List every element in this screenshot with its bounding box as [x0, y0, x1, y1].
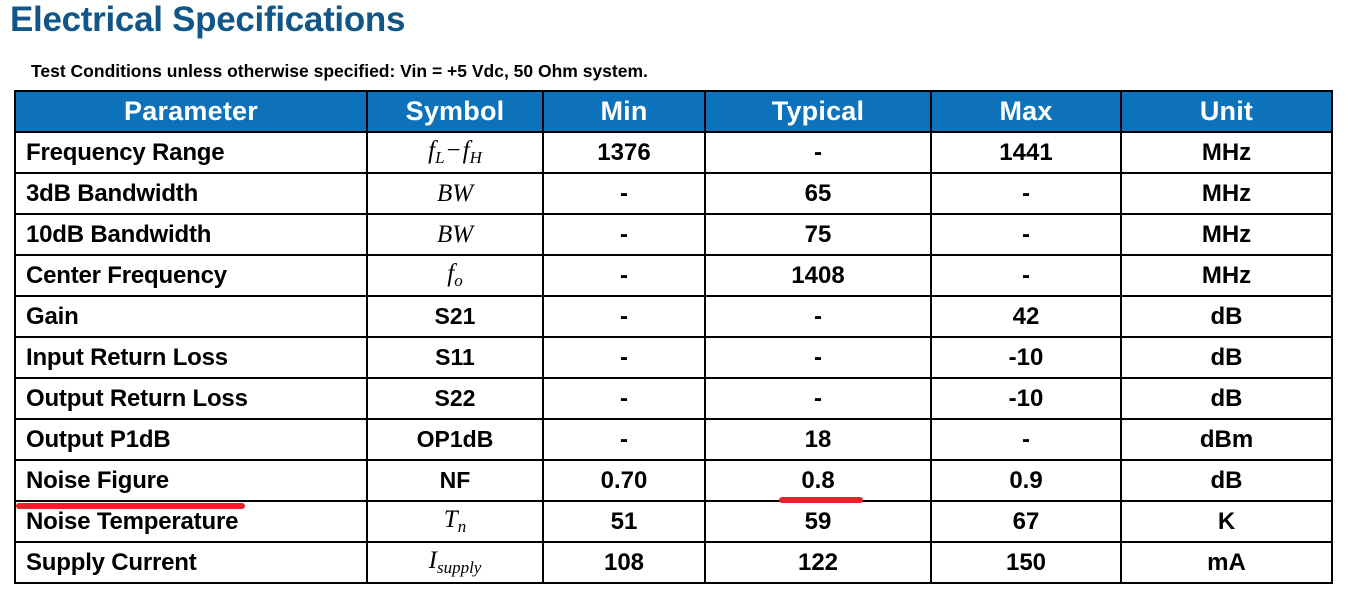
test-conditions-note: Test Conditions unless otherwise specifi… [31, 60, 648, 82]
table-row: Frequency RangefL−fH1376-1441MHz [15, 132, 1332, 173]
cell-symbol: Tn [367, 501, 543, 542]
cell-parameter: Input Return Loss [15, 337, 367, 378]
column-header-unit: Unit [1121, 91, 1332, 132]
table-row: 10dB BandwidthBW-75-MHz [15, 214, 1332, 255]
table-body: Frequency RangefL−fH1376-1441MHz3dB Band… [15, 132, 1332, 583]
table-header-row: Parameter Symbol Min Typical Max Unit [15, 91, 1332, 132]
cell-max: 150 [931, 542, 1121, 583]
cell-parameter: Noise Temperature [15, 501, 367, 542]
cell-parameter: Supply Current [15, 542, 367, 583]
cell-typical: 122 [705, 542, 931, 583]
cell-parameter: Output Return Loss [15, 378, 367, 419]
cell-unit: MHz [1121, 255, 1332, 296]
cell-min: - [543, 214, 705, 255]
cell-parameter: Noise Figure [15, 460, 367, 501]
cell-max: 42 [931, 296, 1121, 337]
cell-parameter: Output P1dB [15, 419, 367, 460]
cell-unit: K [1121, 501, 1332, 542]
cell-symbol: S11 [367, 337, 543, 378]
cell-max: - [931, 255, 1121, 296]
cell-typical: 65 [705, 173, 931, 214]
cell-symbol: Isupply [367, 542, 543, 583]
electrical-specifications-table-wrapper: Parameter Symbol Min Typical Max Unit Fr… [14, 90, 1331, 584]
cell-unit: dB [1121, 460, 1332, 501]
table-row: Input Return LossS11---10dB [15, 337, 1332, 378]
cell-max: - [931, 419, 1121, 460]
cell-min: - [543, 296, 705, 337]
table-row: Supply CurrentIsupply108122150mA [15, 542, 1332, 583]
cell-parameter: Gain [15, 296, 367, 337]
column-header-symbol: Symbol [367, 91, 543, 132]
cell-parameter: Frequency Range [15, 132, 367, 173]
cell-symbol: BW [367, 173, 543, 214]
cell-typical: - [705, 378, 931, 419]
cell-typical: - [705, 296, 931, 337]
cell-unit: dB [1121, 296, 1332, 337]
table-row: Output Return LossS22---10dB [15, 378, 1332, 419]
cell-max: -10 [931, 337, 1121, 378]
cell-typical: 1408 [705, 255, 931, 296]
cell-symbol: S22 [367, 378, 543, 419]
cell-min: 51 [543, 501, 705, 542]
cell-typical: 18 [705, 419, 931, 460]
cell-symbol: OP1dB [367, 419, 543, 460]
page-title: Electrical Specifications [10, 0, 405, 42]
cell-max: -10 [931, 378, 1121, 419]
cell-typical: - [705, 132, 931, 173]
cell-max: 67 [931, 501, 1121, 542]
cell-max: 0.9 [931, 460, 1121, 501]
cell-symbol: NF [367, 460, 543, 501]
column-header-min: Min [543, 91, 705, 132]
cell-typical: - [705, 337, 931, 378]
cell-unit: mA [1121, 542, 1332, 583]
cell-typical: 59 [705, 501, 931, 542]
cell-min: 1376 [543, 132, 705, 173]
cell-symbol: fo [367, 255, 543, 296]
cell-max: - [931, 173, 1121, 214]
cell-unit: MHz [1121, 214, 1332, 255]
cell-min: 108 [543, 542, 705, 583]
cell-parameter: 10dB Bandwidth [15, 214, 367, 255]
cell-min: - [543, 173, 705, 214]
cell-parameter: Center Frequency [15, 255, 367, 296]
cell-min: - [543, 378, 705, 419]
cell-symbol: BW [367, 214, 543, 255]
cell-max: 1441 [931, 132, 1121, 173]
table-row: Noise FigureNF0.700.80.9dB [15, 460, 1332, 501]
cell-unit: MHz [1121, 132, 1332, 173]
cell-unit: dB [1121, 378, 1332, 419]
cell-min: 0.70 [543, 460, 705, 501]
table-row: GainS21--42dB [15, 296, 1332, 337]
electrical-specifications-table: Parameter Symbol Min Typical Max Unit Fr… [14, 90, 1333, 584]
cell-min: - [543, 337, 705, 378]
specification-page: Electrical Specifications Test Condition… [0, 0, 1366, 604]
cell-typical: 0.8 [705, 460, 931, 501]
cell-unit: MHz [1121, 173, 1332, 214]
cell-symbol: S21 [367, 296, 543, 337]
cell-symbol: fL−fH [367, 132, 543, 173]
table-row: Noise TemperatureTn515967K [15, 501, 1332, 542]
column-header-typical: Typical [705, 91, 931, 132]
cell-unit: dB [1121, 337, 1332, 378]
cell-max: - [931, 214, 1121, 255]
table-row: 3dB BandwidthBW-65-MHz [15, 173, 1332, 214]
cell-min: - [543, 419, 705, 460]
table-header: Parameter Symbol Min Typical Max Unit [15, 91, 1332, 132]
column-header-max: Max [931, 91, 1121, 132]
table-row: Output P1dBOP1dB-18-dBm [15, 419, 1332, 460]
table-row: Center Frequencyfo-1408-MHz [15, 255, 1332, 296]
cell-min: - [543, 255, 705, 296]
cell-parameter: 3dB Bandwidth [15, 173, 367, 214]
cell-unit: dBm [1121, 419, 1332, 460]
column-header-parameter: Parameter [15, 91, 367, 132]
cell-typical: 75 [705, 214, 931, 255]
